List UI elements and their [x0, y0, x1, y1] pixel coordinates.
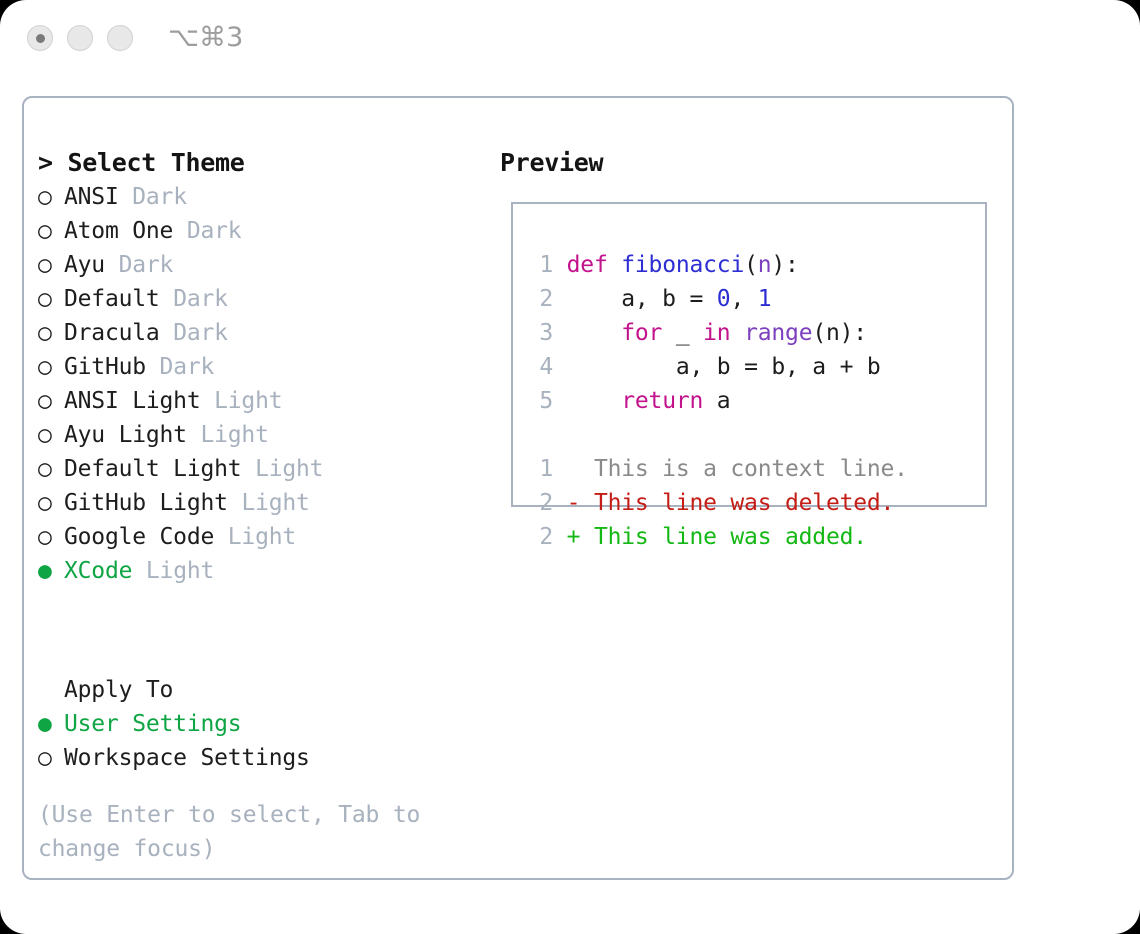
- theme-list-item[interactable]: ○Ayu Dark: [38, 248, 488, 282]
- spacer: [160, 286, 174, 312]
- code-token: [730, 320, 744, 346]
- radio-unselected-icon: ○: [38, 180, 64, 214]
- code-token: return: [621, 388, 703, 414]
- code-token: def: [567, 252, 608, 278]
- code-token: [567, 320, 622, 346]
- line-number: 4: [523, 350, 553, 384]
- app-window: ⌥⌘3 > Select Theme ○ANSI Dark○Atom One D…: [0, 0, 1140, 934]
- theme-kind-badge: Dark: [187, 218, 242, 244]
- diff-line: 2 - This line was deleted.: [523, 486, 979, 520]
- line-number: 1: [523, 248, 553, 282]
- code-token: a: [703, 388, 730, 414]
- apply-to-option[interactable]: ●User Settings: [38, 707, 488, 741]
- theme-kind-badge: Light: [228, 524, 296, 550]
- main-panel: > Select Theme ○ANSI Dark○Atom One Dark○…: [22, 96, 1014, 880]
- code-token: fibonacci: [621, 252, 744, 278]
- window-maximize-button[interactable]: [107, 25, 133, 51]
- preview-heading: Preview: [500, 146, 1000, 180]
- gutter-space: [553, 320, 567, 346]
- diff-line: 2 + This line was added.: [523, 520, 979, 554]
- code-token: [608, 252, 622, 278]
- diff-line: 1 This is a context line.: [523, 452, 979, 486]
- theme-name: ANSI: [64, 184, 119, 210]
- spacer: [214, 524, 228, 550]
- theme-list-item[interactable]: ○Google Code Light: [38, 520, 488, 554]
- radio-unselected-icon: ○: [38, 741, 64, 775]
- code-token: in: [703, 320, 730, 346]
- theme-name: GitHub Light: [64, 490, 228, 516]
- theme-name: Ayu Light: [64, 422, 187, 448]
- theme-kind-badge: Dark: [160, 354, 215, 380]
- theme-kind-badge: Dark: [173, 320, 228, 346]
- apply-to-section: Apply To ●User Settings○Workspace Settin…: [38, 673, 488, 775]
- code-token: 0: [717, 286, 731, 312]
- code-token: a, b =: [567, 286, 717, 312]
- spacer: [132, 558, 146, 584]
- radio-unselected-icon: ○: [38, 350, 64, 384]
- code-token: (n):: [812, 320, 867, 346]
- keyboard-shortcut-label: ⌥⌘3: [168, 22, 243, 53]
- gutter-space: [553, 354, 567, 380]
- apply-to-option-label: Workspace Settings: [64, 745, 310, 771]
- code-token: range: [744, 320, 812, 346]
- code-token: for: [621, 320, 662, 346]
- theme-name: Default Light: [64, 456, 241, 482]
- theme-list-item[interactable]: ●XCode Light: [38, 554, 488, 588]
- title-bar: ⌥⌘3: [0, 0, 1140, 78]
- code-line: 4 a, b = b, a + b: [523, 350, 979, 384]
- radio-unselected-icon: ○: [38, 248, 64, 282]
- theme-selection-column: > Select Theme ○ANSI Dark○Atom One Dark○…: [38, 146, 488, 588]
- theme-name: Default: [64, 286, 160, 312]
- theme-kind-badge: Dark: [119, 252, 174, 278]
- diff-line-text: - This line was deleted.: [553, 490, 894, 516]
- select-theme-heading: > Select Theme: [38, 146, 488, 180]
- theme-list-item[interactable]: ○Default Light Light: [38, 452, 488, 486]
- theme-list-item[interactable]: ○Dracula Dark: [38, 316, 488, 350]
- code-token: _: [662, 320, 703, 346]
- theme-kind-badge: Dark: [132, 184, 187, 210]
- line-number: 1: [523, 452, 553, 486]
- theme-name: Google Code: [64, 524, 214, 550]
- code-diff-separator: [523, 418, 979, 452]
- window-close-button[interactable]: [27, 25, 53, 51]
- line-number: 5: [523, 384, 553, 418]
- diff-line-text: + This line was added.: [553, 524, 867, 550]
- spacer: [187, 422, 201, 448]
- theme-kind-badge: Light: [146, 558, 214, 584]
- apply-to-option-label: User Settings: [64, 711, 241, 737]
- code-token: (: [744, 252, 758, 278]
- radio-unselected-icon: ○: [38, 282, 64, 316]
- spacer: [228, 490, 242, 516]
- diff-line-text: This is a context line.: [553, 456, 908, 482]
- traffic-light-group: [27, 25, 133, 51]
- active-indicator-dot: [36, 34, 45, 43]
- theme-list-item[interactable]: ○GitHub Light Light: [38, 486, 488, 520]
- radio-unselected-icon: ○: [38, 486, 64, 520]
- spacer: [173, 218, 187, 244]
- theme-name: XCode: [64, 558, 132, 584]
- spacer: [160, 320, 174, 346]
- apply-to-option[interactable]: ○Workspace Settings: [38, 741, 488, 775]
- radio-unselected-icon: ○: [38, 452, 64, 486]
- spacer: [146, 354, 160, 380]
- code-token: ,: [730, 286, 757, 312]
- theme-kind-badge: Light: [255, 456, 323, 482]
- theme-list-item[interactable]: ○ANSI Dark: [38, 180, 488, 214]
- theme-kind-badge: Dark: [173, 286, 228, 312]
- theme-list-item[interactable]: ○GitHub Dark: [38, 350, 488, 384]
- radio-unselected-icon: ○: [38, 418, 64, 452]
- code-line: 2 a, b = 0, 1: [523, 282, 979, 316]
- code-line: 1 def fibonacci(n):: [523, 248, 979, 282]
- theme-kind-badge: Light: [214, 388, 282, 414]
- radio-selected-icon: ●: [38, 554, 64, 588]
- code-preview-area: 1 def fibonacci(n):2 a, b = 0, 13 for _ …: [523, 248, 979, 554]
- theme-list: ○ANSI Dark○Atom One Dark○Ayu Dark○Defaul…: [38, 180, 488, 588]
- apply-to-heading: Apply To: [38, 673, 488, 707]
- preview-box: 1 def fibonacci(n):2 a, b = 0, 13 for _ …: [511, 202, 987, 507]
- code-token: 1: [758, 286, 772, 312]
- apply-to-list: ●User Settings○Workspace Settings: [38, 707, 488, 775]
- theme-kind-badge: Light: [241, 490, 309, 516]
- spacer: [241, 456, 255, 482]
- spacer: [200, 388, 214, 414]
- preview-column: Preview 1 def fibonacci(n):2 a, b = 0, 1…: [500, 146, 1000, 180]
- theme-name: ANSI Light: [64, 388, 200, 414]
- spacer: [105, 252, 119, 278]
- window-minimize-button[interactable]: [67, 25, 93, 51]
- code-token: ):: [771, 252, 798, 278]
- radio-selected-icon: ●: [38, 707, 64, 741]
- spacer: [119, 184, 133, 210]
- line-number: 3: [523, 316, 553, 350]
- line-number: 2: [523, 282, 553, 316]
- gutter-space: [553, 286, 567, 312]
- theme-kind-badge: Light: [200, 422, 268, 448]
- theme-name: Atom One: [64, 218, 173, 244]
- code-token: [567, 388, 622, 414]
- code-line: 5 return a: [523, 384, 979, 418]
- radio-unselected-icon: ○: [38, 316, 64, 350]
- radio-unselected-icon: ○: [38, 214, 64, 248]
- code-token: a, b = b, a + b: [567, 354, 881, 380]
- theme-list-item[interactable]: ○ANSI Light Light: [38, 384, 488, 418]
- theme-name: Dracula: [64, 320, 160, 346]
- keyboard-hint-text: (Use Enter to select, Tab to change focu…: [38, 798, 458, 866]
- theme-list-item[interactable]: ○Ayu Light Light: [38, 418, 488, 452]
- line-number: 2: [523, 520, 553, 554]
- gutter-space: [553, 252, 567, 278]
- radio-unselected-icon: ○: [38, 520, 64, 554]
- theme-list-item[interactable]: ○Default Dark: [38, 282, 488, 316]
- gutter-space: [553, 388, 567, 414]
- theme-name: Ayu: [64, 252, 105, 278]
- code-token: n: [758, 252, 772, 278]
- code-line: 3 for _ in range(n):: [523, 316, 979, 350]
- theme-list-item[interactable]: ○Atom One Dark: [38, 214, 488, 248]
- radio-unselected-icon: ○: [38, 384, 64, 418]
- line-number: 2: [523, 486, 553, 520]
- theme-name: GitHub: [64, 354, 146, 380]
